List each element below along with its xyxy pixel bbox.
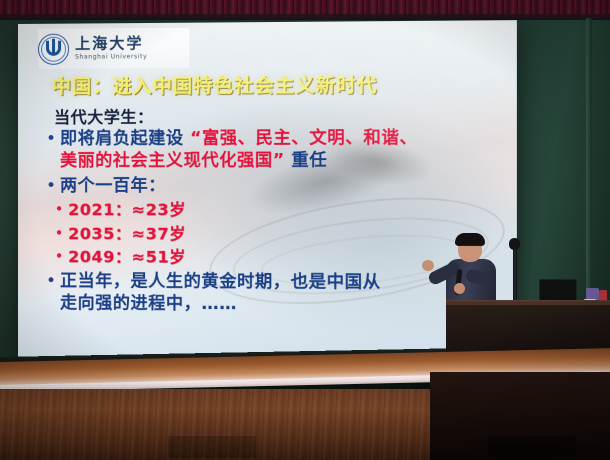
slide-bullet-line: 正当年，是人生的黄金时期，也是中国从 <box>60 270 381 294</box>
slide-text-segment: 2049：≈51岁 <box>68 247 186 266</box>
bullet-marker-icon: • <box>42 270 60 292</box>
logo-name-en: Shanghai University <box>75 54 147 60</box>
slide-text-segment: “富强、民主、文明、和谐、 <box>190 128 417 149</box>
slide-text-segment: 即将肩负起建设 <box>60 129 190 149</box>
glasses-icon <box>460 245 480 250</box>
slide-title: 中国：进入中国特色社会主义新时代 <box>52 70 378 99</box>
slide-bullet-text: 2049：≈51岁 <box>68 246 186 268</box>
slide-bullet-line: 2021：≈23岁 <box>68 199 186 221</box>
slide-text-segment: 美丽的社会主义现代化强国” <box>60 151 285 171</box>
microphone-head <box>509 238 520 250</box>
university-logo: 上海大学 Shanghai University <box>38 28 189 69</box>
slide-bullet-item: •2021：≈23岁 <box>50 199 502 221</box>
slide-text-segment: 正当年，是人生的黄金时期，也是中国从 <box>60 271 381 293</box>
bullet-marker-icon: • <box>50 223 68 242</box>
bullet-marker-icon: • <box>42 175 60 197</box>
slide-bullet-text: 即将肩负起建设 “富强、民主、文明、和谐、美丽的社会主义现代化强国” 重任 <box>60 127 418 173</box>
slide-text-segment: 两个一百年： <box>60 176 166 196</box>
slide-bullet-text: 两个一百年： <box>60 175 166 198</box>
slide-text-segment: 2035：≈37岁 <box>68 224 186 243</box>
slide-lead-text: 当代大学生： <box>54 103 154 127</box>
shanghai-university-emblem-icon <box>38 33 69 64</box>
bullet-marker-icon: • <box>50 199 68 218</box>
bullet-marker-icon: • <box>42 128 60 150</box>
slide-bullet-text: 2035：≈37岁 <box>68 223 186 245</box>
slide-bullet-line: 2035：≈37岁 <box>68 223 186 245</box>
slide-text-segment: 2021：≈23岁 <box>68 200 186 219</box>
slide-bullet-item: •两个一百年： <box>42 175 502 198</box>
slide-bullet-text: 正当年，是人生的黄金时期，也是中国从走向强的进程中，…… <box>60 270 381 317</box>
logo-name-cn: 上海大学 <box>75 36 147 52</box>
floor-panel <box>168 436 256 458</box>
microphone-stand <box>513 243 517 305</box>
floor-panel <box>488 436 576 458</box>
slide-bullet-text: 2021：≈23岁 <box>68 199 186 221</box>
bullet-marker-icon: • <box>50 246 68 265</box>
slide-text-segment: 重任 <box>285 151 328 171</box>
slide-text-segment: 走向强的进程中，…… <box>60 293 237 314</box>
slide-bullet-line: 2049：≈51岁 <box>68 246 186 268</box>
slide-bullet-line: 即将肩负起建设 “富强、民主、文明、和谐、 <box>60 127 418 151</box>
slide-bullet-line: 美丽的社会主义现代化强国” 重任 <box>60 150 418 173</box>
slide-bullet-item: •即将肩负起建设 “富强、民主、文明、和谐、美丽的社会主义现代化强国” 重任 <box>42 127 502 173</box>
slide-bullet-line: 两个一百年： <box>60 175 166 198</box>
photo-scene: 上海大学 Shanghai University 中国：进入中国特色社会主义新时… <box>0 0 610 460</box>
slide-bullet-line: 走向强的进程中，…… <box>60 292 381 316</box>
